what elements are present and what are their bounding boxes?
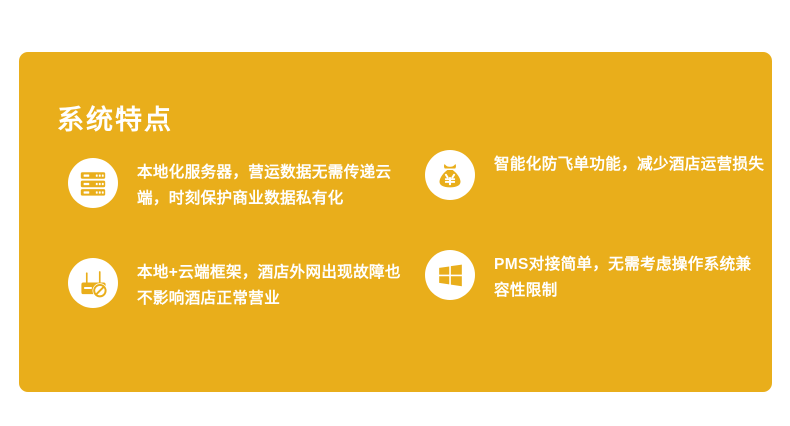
feature-item-anti-order-loss[interactable]: 智能化防飞单功能，减少酒店运营损失 xyxy=(425,150,780,200)
feature-item-hybrid-framework[interactable]: 本地+云端框架，酒店外网出现故障也不影响酒店正常营业 xyxy=(68,258,423,312)
feature-item-localized-server[interactable]: 本地化服务器，营运数据无需传递云端，时刻保护商业数据私有化 xyxy=(68,158,423,212)
feature-item-pms-integration[interactable]: PMS对接简单，无需考虑操作系统兼容性限制 xyxy=(425,250,780,304)
router-disconnected-icon xyxy=(68,258,118,308)
feature-label: 智能化防飞单功能，减少酒店运营损失 xyxy=(494,152,766,178)
features-panel: 系统特点 xyxy=(19,52,772,392)
feature-grid: 本地化服务器，营运数据无需传递云端，时刻保护商业数据私有化 xyxy=(19,52,772,392)
money-bag-yuan-icon xyxy=(425,150,475,200)
server-rack-icon xyxy=(68,158,118,208)
feature-label: 本地+云端框架，酒店外网出现故障也不影响酒店正常营业 xyxy=(137,260,405,312)
page-root: 系统特点 xyxy=(0,0,790,426)
feature-label: 本地化服务器，营运数据无需传递云端，时刻保护商业数据私有化 xyxy=(137,160,405,212)
windows-logo-icon xyxy=(425,250,475,300)
feature-label: PMS对接简单，无需考虑操作系统兼容性限制 xyxy=(494,252,766,304)
